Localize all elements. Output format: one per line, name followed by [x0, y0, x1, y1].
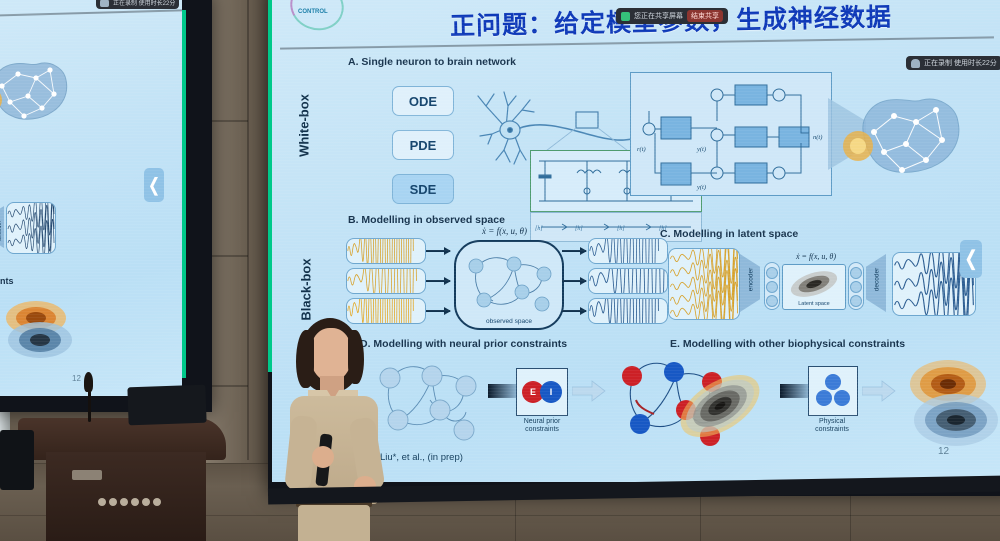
chevron-left-icon: ❬ — [146, 176, 161, 194]
speaker-mic-hand — [312, 446, 334, 468]
decoder-label: decoder — [874, 259, 881, 301]
arrow-out-2 — [562, 280, 586, 282]
decoder-node-stack — [848, 262, 864, 310]
arrow-in-1 — [426, 250, 450, 252]
observed-input-wave-2 — [346, 268, 426, 294]
pill-sde-label: SDE — [410, 182, 437, 197]
speaker-hair-left-strand — [296, 330, 314, 388]
left-decoder-label: decoder — [0, 201, 3, 241]
screen-sharing-badge-text: 您正在共享屏幕 — [634, 11, 683, 21]
stop-sharing-button[interactable]: 结束共享 — [687, 10, 723, 22]
logo-ring — [284, 0, 350, 37]
inhibitory-node: I — [540, 381, 562, 403]
inhibitory-node-label: I — [550, 387, 553, 397]
pill-ode-label: ODE — [409, 94, 437, 109]
podium-button[interactable] — [153, 498, 161, 506]
podium-button[interactable] — [98, 498, 106, 506]
latent-input-wave-box — [668, 248, 740, 320]
observed-input-wave-1 — [346, 238, 426, 264]
slide-page-number: 12 — [938, 446, 949, 457]
svg-text:y(t): y(t) — [696, 184, 706, 191]
podium-microphone-head — [84, 372, 93, 392]
pill-sde[interactable]: SDE — [392, 174, 454, 204]
chevron-left-icon: ❬ — [963, 249, 980, 269]
svg-text:[h]: [h] — [617, 226, 625, 232]
encoder-label: encoder — [748, 259, 755, 301]
physical-caption-line1: Physical — [798, 418, 866, 426]
podium-control-buttons[interactable] — [98, 498, 161, 506]
logo-text-control: CONTROL — [298, 9, 328, 15]
pill-pde-label: PDE — [410, 138, 437, 153]
left-brain-graphic — [0, 48, 80, 138]
screen-sharing-badge[interactable]: 您正在共享屏幕 结束共享 — [616, 8, 728, 24]
svg-text:[h]: [h] — [535, 226, 543, 232]
left-blob-graphic — [0, 294, 78, 364]
left-decoder-waveform-box — [6, 202, 56, 254]
encoder-node-stack — [764, 262, 780, 310]
section-a-heading: A. Single neuron to brain network — [348, 56, 516, 68]
excitatory-node-label: E — [530, 387, 536, 397]
left-partial-heading: traints — [0, 276, 14, 286]
svg-text:r(t): r(t) — [637, 146, 646, 153]
left-screen-edge-glow — [182, 10, 186, 378]
neural-prior-constraint-box: E I — [516, 368, 568, 416]
svg-text:n(t): n(t) — [813, 134, 822, 141]
section-a-side-label: White-box — [297, 76, 312, 176]
podium-body — [46, 452, 206, 541]
podium-button[interactable] — [142, 498, 150, 506]
screenshot-root: decoder traints 12 ❬ — [0, 0, 1000, 541]
microphone-icon — [911, 59, 920, 68]
speaker-hair-right-strand — [348, 330, 364, 384]
left-page-number: 12 — [72, 374, 81, 383]
svg-text:[h]: [h] — [575, 226, 583, 232]
section-c-heading: C. Modelling in latent space — [660, 228, 798, 240]
physical-caption-line2: constraints — [798, 426, 866, 434]
podium-side-monitor — [0, 430, 34, 490]
pill-ode[interactable]: ODE — [392, 86, 454, 116]
neural-prior-caption-line1: Neural prior — [508, 418, 576, 426]
left-recording-badge: 正在录制 使用时长22分 — [96, 0, 179, 9]
section-b-heading: B. Modelling in observed space — [348, 214, 505, 226]
pill-pde[interactable]: PDE — [392, 130, 454, 160]
left-recording-badge-text: 正在录制 使用时长22分 — [113, 0, 175, 7]
section-e-heading: E. Modelling with other biophysical cons… — [670, 338, 905, 350]
left-screen-slide: decoder traints 12 ❬ — [0, 0, 182, 396]
logo-text-computing: COMPUTING — [302, 0, 339, 2]
signal-icon — [621, 12, 630, 21]
speaker-person — [258, 300, 418, 541]
left-slide-rule — [0, 9, 182, 16]
observed-space-network-box: observed space — [454, 240, 564, 330]
neural-prior-caption: Neural prior constraints — [508, 418, 576, 434]
prior-apply-arrow — [572, 380, 606, 402]
podium-nameplate — [72, 470, 102, 480]
observed-output-wave-3 — [588, 298, 668, 324]
observed-output-wave-1 — [588, 238, 668, 264]
arrow-in-2 — [426, 280, 450, 282]
podium-button[interactable] — [131, 498, 139, 506]
unconstrained-blob-graphic — [668, 362, 772, 450]
physical-constraint-caption: Physical constraints — [798, 418, 866, 434]
computing-control-logo: COMPUTING CONTROL — [290, 0, 344, 30]
physical-apply-arrow — [862, 380, 896, 402]
block-diagram-box: r(t)y(t)y(t) n(t) — [630, 72, 832, 196]
arrow-in-3 — [426, 310, 450, 312]
physical-constraint-box — [808, 366, 858, 416]
wall-seam — [247, 0, 249, 460]
left-nav-chevron-button[interactable]: ❬ — [144, 168, 164, 202]
recording-status-badge[interactable]: 正在录制 使用时长22分 — [906, 56, 1000, 70]
podium-laptop-screen — [127, 385, 206, 426]
podium-button[interactable] — [109, 498, 117, 506]
arrow-out-1 — [562, 250, 586, 252]
observed-space-caption: observed space — [456, 318, 562, 325]
section-b-equation: ẋ = f(x, u, θ) — [482, 226, 527, 236]
latent-space-caption: Latent space — [783, 301, 845, 307]
svg-text:y(t): y(t) — [696, 146, 706, 153]
main-nav-chevron-right-edge[interactable]: ❬ — [960, 240, 982, 278]
microphone-icon — [100, 0, 109, 7]
speaker-trousers — [298, 505, 370, 541]
constrained-blob-graphic — [898, 352, 1000, 456]
podium-button[interactable] — [120, 498, 128, 506]
section-c-equation: ẋ = f(x, u, θ) — [796, 252, 836, 261]
observed-output-wave-2 — [588, 268, 668, 294]
latent-space-box: Latent space — [782, 264, 846, 310]
brain-network-graphic — [842, 86, 982, 194]
arrow-out-3 — [562, 310, 586, 312]
recording-status-text: 正在录制 使用时长22分 — [924, 58, 997, 68]
speaker-face — [310, 328, 352, 382]
neural-prior-caption-line2: constraints — [508, 426, 576, 434]
